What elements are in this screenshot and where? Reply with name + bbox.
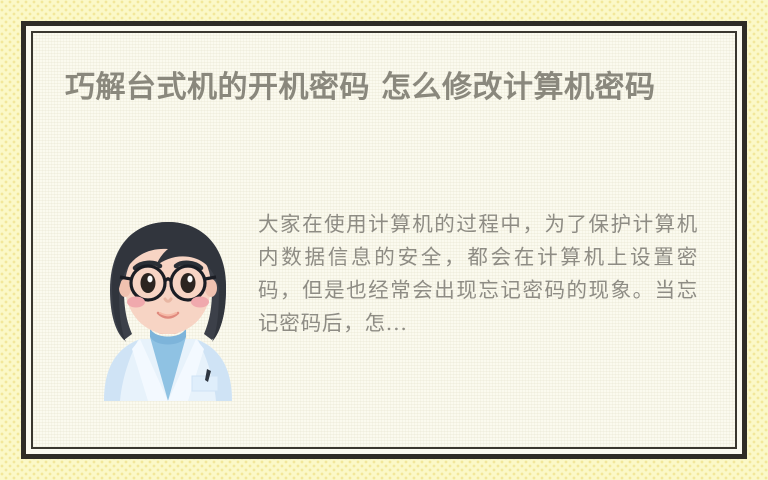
blush-left — [127, 297, 145, 308]
content-row: 大家在使用计算机的过程中，为了保护计算机内数据信息的安全，都会在计算机上设置密码… — [33, 188, 735, 447]
card-outer-frame: 巧解台式机的开机密码 怎么修改计算机密码 — [21, 21, 747, 459]
page-title: 巧解台式机的开机密码 怎么修改计算机密码 — [65, 67, 685, 108]
article-excerpt: 大家在使用计算机的过程中，为了保护计算机内数据信息的安全，都会在计算机上设置密码… — [258, 208, 698, 340]
page-background: 巧解台式机的开机密码 怎么修改计算机密码 — [0, 0, 768, 480]
eye-right — [181, 273, 196, 293]
card-inner-frame: 巧解台式机的开机密码 怎么修改计算机密码 — [31, 31, 737, 449]
eye-left — [141, 273, 156, 293]
blush-right — [191, 297, 209, 308]
avatar — [88, 216, 248, 401]
